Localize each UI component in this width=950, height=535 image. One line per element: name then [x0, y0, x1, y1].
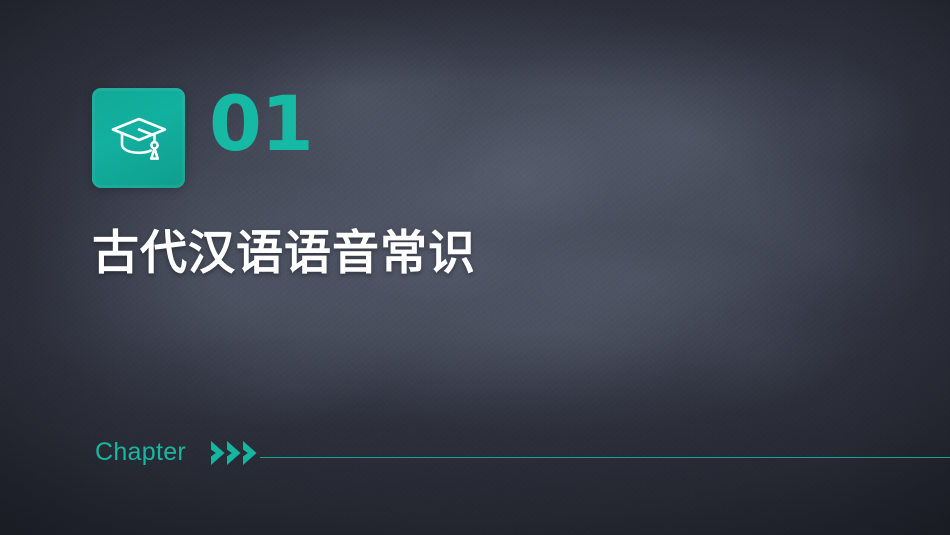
slide-footer: Chapter: [0, 432, 950, 476]
chapter-badge-row: 01: [92, 88, 313, 188]
slide-content: 01 古代汉语语音常识 Chapter: [0, 0, 950, 535]
footer-chapter-label: Chapter: [95, 432, 186, 472]
chapter-number: 01: [209, 86, 313, 162]
footer-divider-line: [260, 457, 950, 458]
page-title: 古代汉语语音常识: [92, 226, 476, 281]
graduation-cap-icon: [110, 114, 168, 162]
chapter-icon-tile: [92, 88, 185, 188]
triple-chevron-right-icon: [211, 438, 265, 473]
slide-canvas: 01 古代汉语语音常识 Chapter: [0, 0, 950, 535]
